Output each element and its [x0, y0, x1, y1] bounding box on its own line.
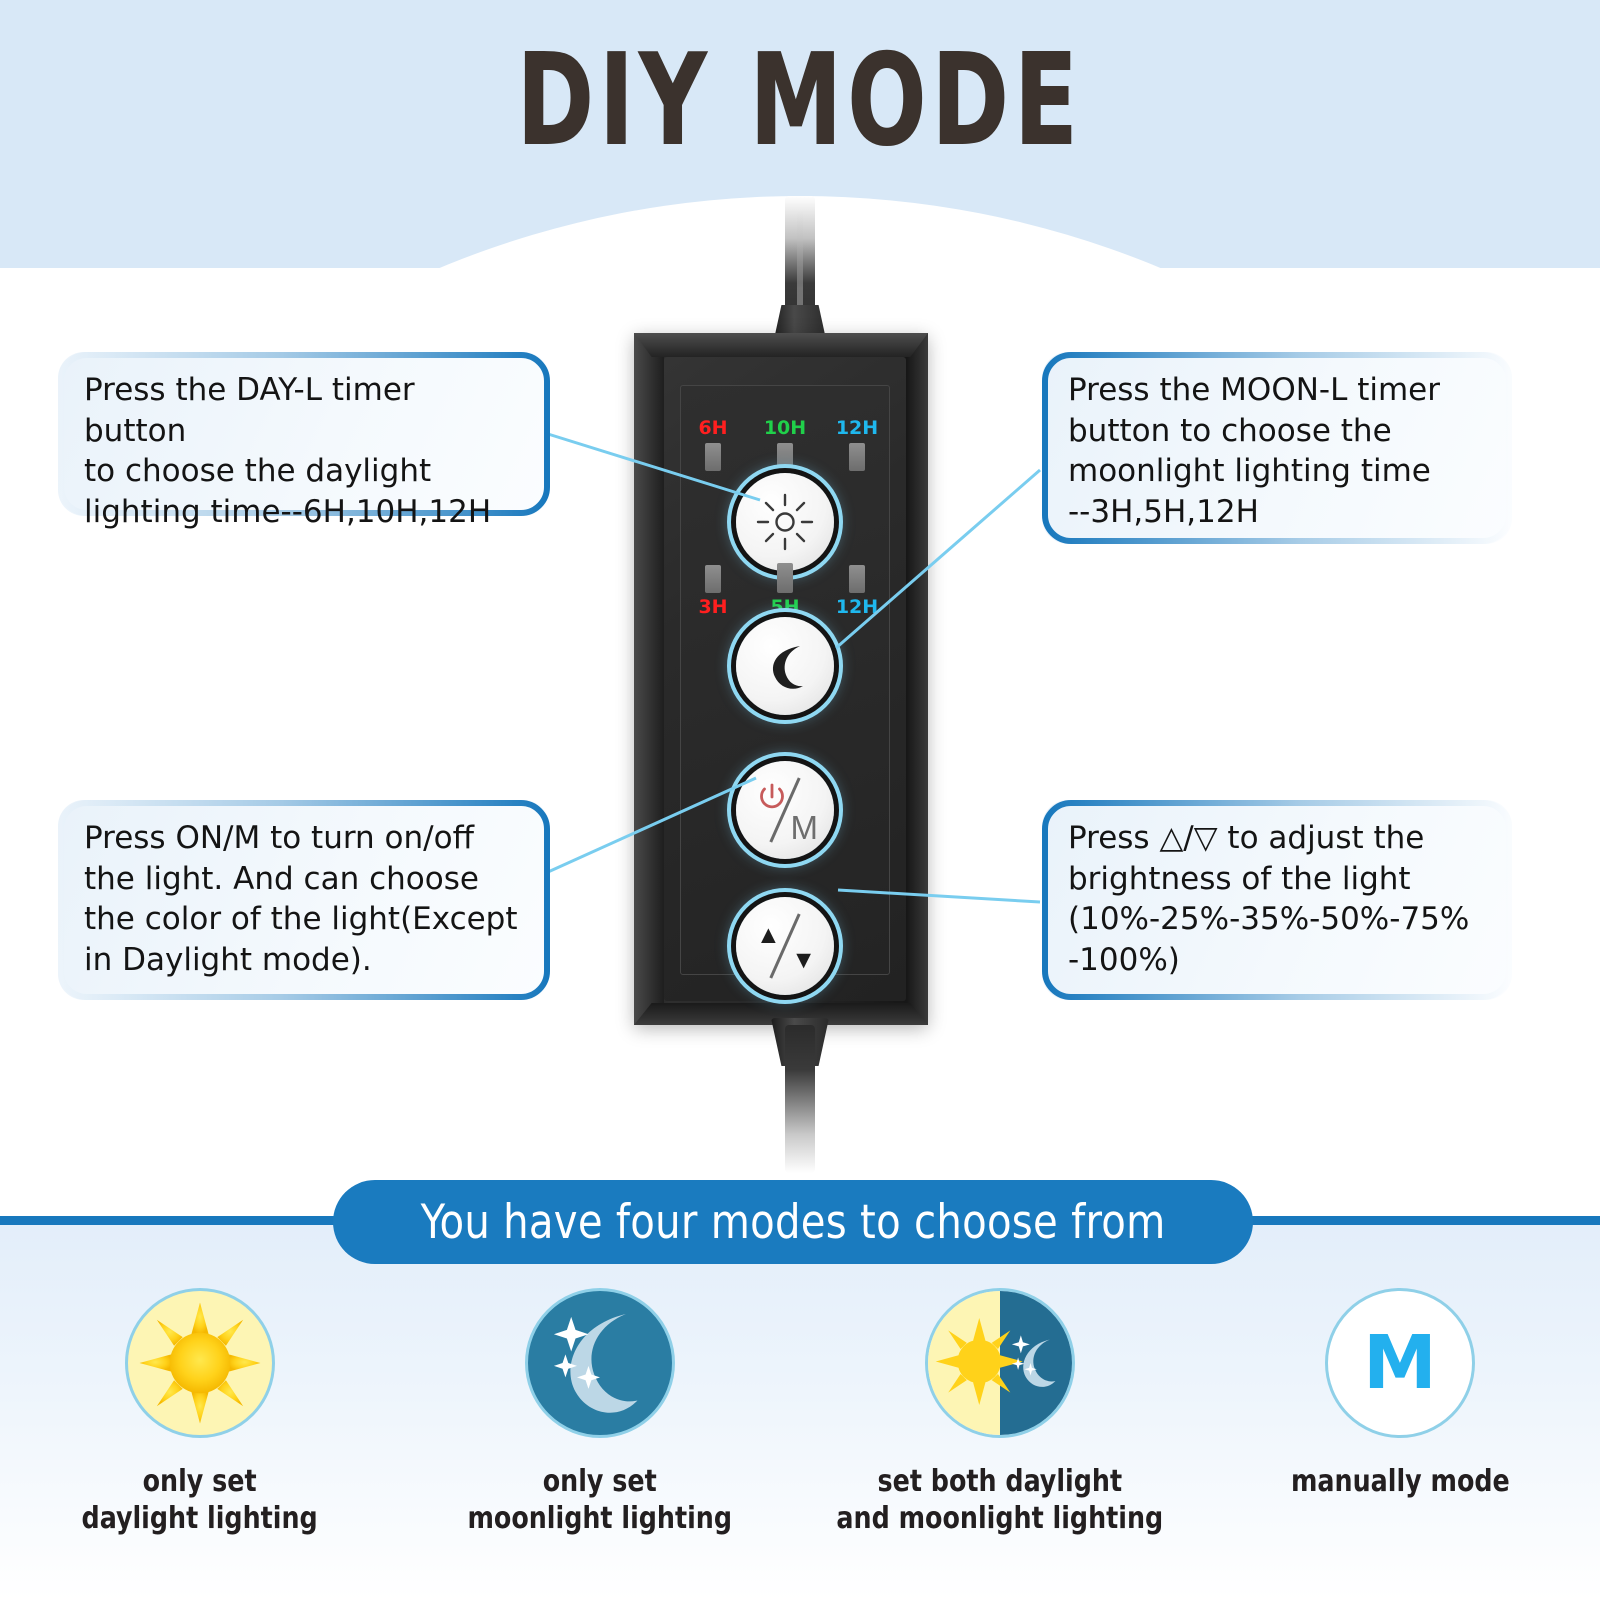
controller-face-plate: 6H 10H 12H: [664, 357, 906, 1001]
on-mode-button[interactable]: M: [736, 761, 834, 859]
letter-m-icon: M: [1325, 1288, 1475, 1438]
sun-moon-icon: [925, 1288, 1075, 1438]
mode-item-manual: M manually mode: [1200, 1288, 1600, 1537]
brightness-button[interactable]: ▲ ▼: [736, 897, 834, 995]
led-cell-6h: 6H: [690, 419, 736, 473]
led-indicator-12h-moon: [849, 565, 865, 593]
led-label-6h: 6H: [690, 419, 736, 438]
led-cell-5h: 5H: [762, 563, 808, 617]
callout-moon-timer: Press the MOON-L timer button to choose …: [1042, 352, 1512, 544]
power-cable-bottom: [785, 1025, 815, 1173]
triangle-up-icon: ▲: [756, 923, 781, 948]
callout-brightness: Press △/▽ to adjust the brightness of th…: [1042, 800, 1512, 1000]
callout-dim-text: Press △/▽ to adjust the brightness of th…: [1042, 800, 1512, 998]
moon-icon: [755, 636, 815, 696]
controller-right-bevel: [906, 333, 928, 1025]
mode-caption-manual: manually mode: [1291, 1464, 1510, 1501]
callout-on-mode: Press ON/M to turn on/off the light. And…: [58, 800, 550, 1000]
led-indicator-6h: [705, 443, 721, 471]
callout-moon-text: Press the MOON-L timer button to choose …: [1042, 352, 1512, 550]
mode-list: only set daylight lighting only set moon…: [0, 1288, 1600, 1537]
led-cell-12h-day: 12H: [834, 419, 880, 473]
led-indicator-3h: [705, 565, 721, 593]
letter-m-glyph: M: [1363, 1326, 1437, 1400]
triangle-down-icon: ▼: [791, 948, 816, 973]
day-timer-button[interactable]: [736, 473, 834, 571]
day-timer-led-row: 6H 10H 12H: [664, 419, 906, 473]
led-indicator-5h: [777, 563, 793, 593]
led-cell-10h: 10H: [762, 419, 808, 473]
led-label-12h-moon: 12H: [834, 598, 880, 617]
led-cell-3h: 3H: [690, 563, 736, 617]
led-label-10h: 10H: [762, 419, 808, 438]
mode-item-daylight: only set daylight lighting: [0, 1288, 400, 1537]
sun-icon: [125, 1288, 275, 1438]
callout-day-text: Press the DAY-L timer button to choose t…: [58, 352, 550, 550]
led-label-3h: 3H: [690, 598, 736, 617]
mode-letter-m: M: [791, 809, 819, 847]
page-title: DIY MODE: [64, 38, 1536, 163]
mode-caption-both: set both daylight and moonlight lighting: [837, 1464, 1164, 1537]
moon-timer-button[interactable]: [736, 617, 834, 715]
callout-onm-text: Press ON/M to turn on/off the light. And…: [58, 800, 550, 998]
mode-caption-moonlight: only set moonlight lighting: [468, 1464, 733, 1537]
moon-stars-icon: [525, 1288, 675, 1438]
led-indicator-12h-day: [849, 443, 865, 471]
callout-day-timer: Press the DAY-L timer button to choose t…: [58, 352, 550, 516]
mode-item-both: set both daylight and moonlight lighting: [800, 1288, 1200, 1537]
sun-icon: [753, 490, 817, 554]
light-controller-body: 6H 10H 12H: [634, 333, 928, 1025]
led-cell-12h-moon: 12H: [834, 563, 880, 617]
moon-timer-led-row: 3H 5H 12H: [664, 563, 906, 617]
controller-left-bevel: [634, 333, 664, 1025]
mode-item-moonlight: only set moonlight lighting: [400, 1288, 800, 1537]
power-icon: [756, 781, 788, 818]
led-label-5h: 5H: [762, 598, 808, 617]
led-indicator-10h: [777, 443, 793, 473]
modes-banner: You have four modes to choose from: [333, 1180, 1253, 1264]
led-label-12h-day: 12H: [834, 419, 880, 438]
controller-top-bevel: [634, 333, 928, 357]
mode-caption-daylight: only set daylight lighting: [82, 1464, 318, 1537]
modes-banner-text: You have four modes to choose from: [421, 1195, 1166, 1250]
